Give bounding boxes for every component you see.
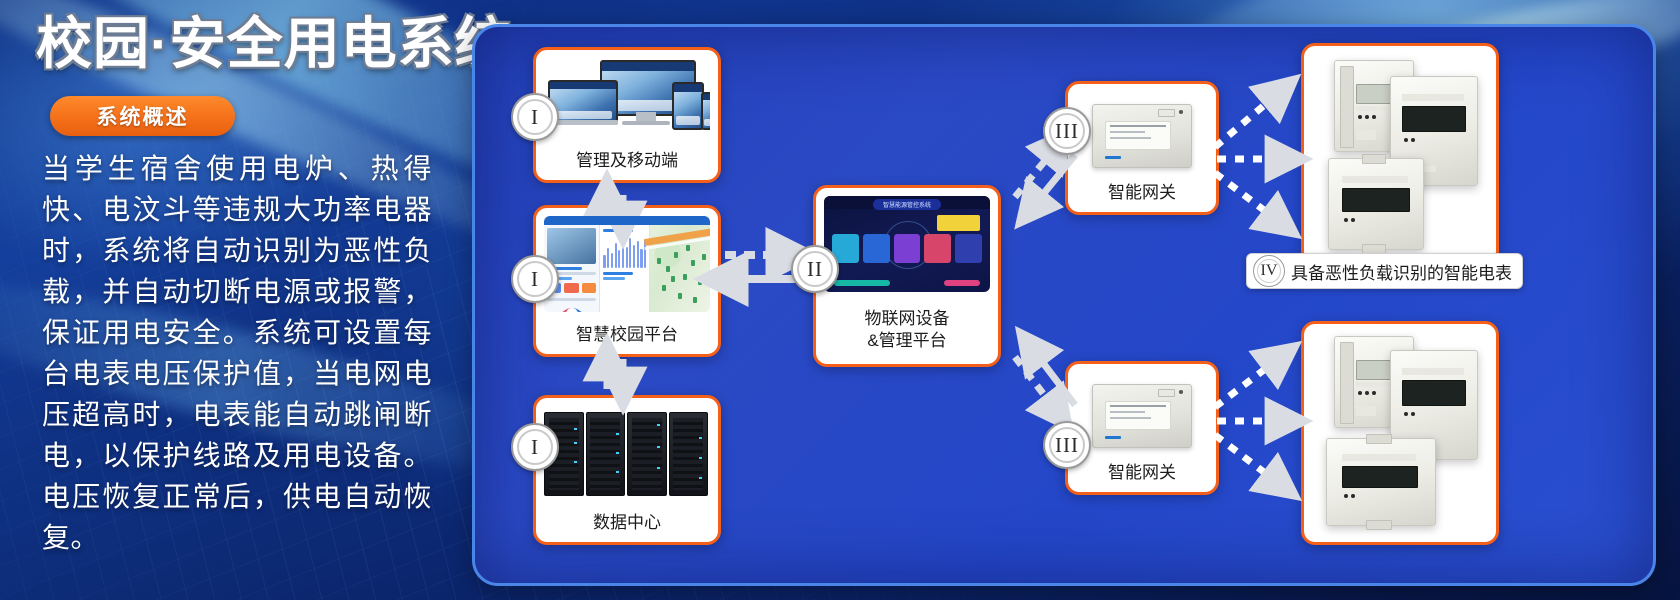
left-text-panel: 校园·安全用电系统 系统概述 当学生宿舍使用电炉、热得快、电汶斗等违规大功率电器… bbox=[0, 0, 470, 600]
admin-mobile-illustration bbox=[544, 58, 710, 140]
step-badge-3-gateway-top: III bbox=[1043, 107, 1091, 155]
gateway-device-illustration bbox=[1076, 92, 1208, 180]
data-center-illustration bbox=[544, 406, 710, 502]
overview-paragraph: 当学生宿舍使用电炉、热得快、电汶斗等违规大功率电器时，系统将自动识别为恶性负载，… bbox=[42, 148, 432, 558]
server-rack bbox=[669, 412, 709, 497]
node-data-center-label: 数据中心 bbox=[536, 512, 718, 534]
panel-smart-meters-bottom[interactable] bbox=[1301, 321, 1499, 545]
node-gateway-top-label: 智能网关 bbox=[1068, 182, 1216, 204]
section-badge-label: 系统概述 bbox=[97, 101, 189, 131]
arrow-gateway-bottom-meters bbox=[1215, 357, 1287, 485]
smart-meter-din-rail bbox=[1326, 438, 1436, 526]
step-badge-2-iot: II bbox=[791, 245, 839, 293]
node-smart-campus-label: 智慧校园平台 bbox=[536, 324, 718, 346]
node-data-center[interactable]: 数据中心 bbox=[533, 395, 721, 545]
iot-platform-dashboard-illustration: 智慧能源管控系统 bbox=[824, 196, 990, 292]
step-badge-4-icon: IV bbox=[1253, 255, 1285, 287]
smart-meter-din-rail bbox=[1328, 158, 1424, 250]
node-gateway-top[interactable]: 智能网关 bbox=[1065, 81, 1219, 215]
server-rack bbox=[586, 412, 626, 497]
architecture-diagram-card: 管理及移动端 I bbox=[472, 24, 1656, 586]
step-badge-1-datacenter: I bbox=[511, 423, 559, 471]
node-iot-platform-label-line2: &管理平台 bbox=[816, 330, 998, 352]
node-admin-mobile-label: 管理及移动端 bbox=[536, 150, 718, 172]
callout-label: 具备恶性负载识别的智能电表 bbox=[1291, 259, 1512, 284]
callout-smart-meter-malicious-load[interactable]: IV 具备恶性负载识别的智能电表 bbox=[1246, 253, 1523, 289]
phone-screen-icon bbox=[701, 92, 710, 130]
node-iot-platform[interactable]: 智慧能源管控系统 物联网设备 &管理平台 bbox=[813, 185, 1001, 367]
node-iot-platform-label-line1: 物联网设备 bbox=[816, 308, 998, 330]
node-admin-mobile[interactable]: 管理及移动端 bbox=[533, 47, 721, 183]
gateway-device-illustration bbox=[1076, 372, 1208, 460]
node-gateway-bottom-label: 智能网关 bbox=[1068, 462, 1216, 484]
section-badge-system-overview: 系统概述 bbox=[50, 96, 235, 136]
monitor-base bbox=[622, 121, 670, 125]
node-smart-campus[interactable]: 智慧校园平台 bbox=[533, 205, 721, 357]
arrow-campus-datacenter bbox=[607, 359, 623, 389]
arrow-gateway-top-meters bbox=[1215, 91, 1287, 223]
smart-campus-dashboard-illustration bbox=[544, 216, 710, 312]
page-title: 校园·安全用电系统 bbox=[36, 16, 512, 72]
step-badge-3-gateway-bottom: III bbox=[1043, 421, 1091, 469]
server-rack bbox=[627, 412, 667, 497]
node-gateway-bottom[interactable]: 智能网关 bbox=[1065, 361, 1219, 495]
step-badge-1-campus: I bbox=[511, 255, 559, 303]
arrow-campus-iot bbox=[723, 255, 795, 279]
panel-smart-meters-top[interactable] bbox=[1301, 43, 1499, 265]
tablet-screen-icon bbox=[672, 82, 704, 130]
step-badge-1-admin: I bbox=[511, 93, 559, 141]
